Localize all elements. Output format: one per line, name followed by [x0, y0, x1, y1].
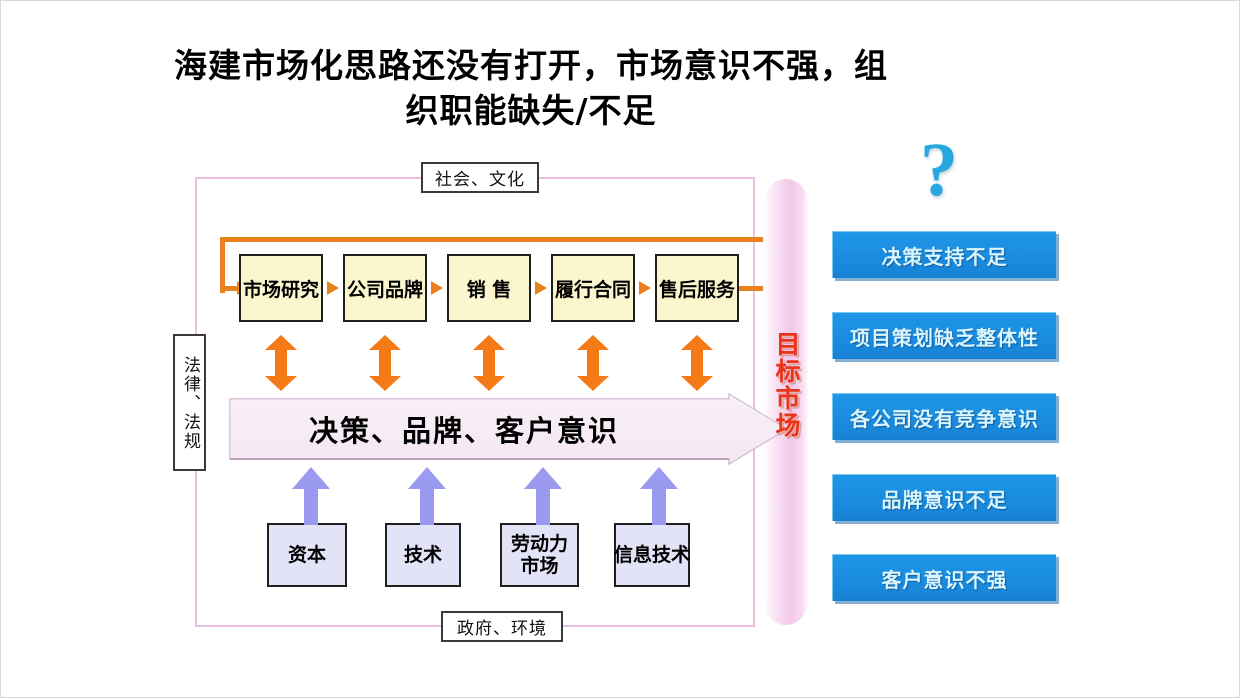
issue-box-3[interactable]: 各公司没有竞争意识	[832, 393, 1056, 440]
process-box-3-label: 销 售	[443, 271, 535, 305]
process-box-5-label: 售后服务	[651, 271, 743, 305]
environment-label-law-regulation: 法律、法规	[173, 334, 206, 471]
issue-box-2[interactable]: 项目策划缺乏整体性	[832, 312, 1056, 359]
resource-box-3-label: 劳动力 市场	[496, 523, 583, 587]
question-mark-icon: ?	[920, 132, 958, 208]
issue-box-4[interactable]: 品牌意识不足	[832, 474, 1056, 521]
resource-box-4-label: 信息技术	[608, 523, 696, 587]
issue-box-5[interactable]: 客户意识不强	[832, 554, 1056, 601]
double-arrow-icon-2	[368, 335, 402, 391]
up-arrow-icon-3	[523, 467, 563, 525]
environment-label-society-culture: 社会、文化	[421, 162, 539, 193]
issue-box-2-label: 项目策划缺乏整体性	[850, 322, 1039, 351]
double-arrow-icon-4	[576, 335, 610, 391]
process-box-1-label: 市场研究	[235, 271, 327, 305]
issue-box-5-label: 客户意识不强	[882, 564, 1008, 593]
page-title: 海建市场化思路还没有打开，市场意识不强，组 织职能缺失/不足	[171, 43, 891, 133]
environment-label-government-environment: 政府、环境	[441, 611, 563, 642]
target-market-label: 目标市场	[770, 331, 802, 491]
process-flow-arrow-icon-4	[639, 281, 651, 295]
issue-box-1-label: 决策支持不足	[882, 241, 1008, 270]
slide-canvas: 海建市场化思路还没有打开，市场意识不强，组 织职能缺失/不足 社会、文化 政府、…	[0, 0, 1240, 698]
process-loop-left-segment	[220, 237, 225, 289]
up-arrow-icon-2	[407, 467, 447, 525]
process-flow-arrow-icon-3	[535, 281, 547, 295]
process-box-2-label: 公司品牌	[339, 271, 431, 305]
issue-box-1[interactable]: 决策支持不足	[832, 231, 1056, 278]
process-box-4-label: 履行合同	[547, 271, 639, 305]
resource-box-2-label: 技术	[381, 523, 465, 587]
issue-box-3-label: 各公司没有竞争意识	[850, 403, 1039, 432]
double-arrow-icon-1	[264, 335, 298, 391]
process-flow-arrow-icon-1	[327, 281, 339, 295]
up-arrow-icon-4	[639, 467, 679, 525]
up-arrow-icon-1	[291, 467, 331, 525]
double-arrow-icon-5	[680, 335, 714, 391]
issue-box-4-label: 品牌意识不足	[882, 484, 1008, 513]
double-arrow-icon-3	[472, 335, 506, 391]
awareness-band-label: 决策、品牌、客户意识	[249, 401, 679, 457]
resource-box-1-label: 资本	[263, 523, 351, 587]
process-flow-arrow-icon-2	[431, 281, 443, 295]
